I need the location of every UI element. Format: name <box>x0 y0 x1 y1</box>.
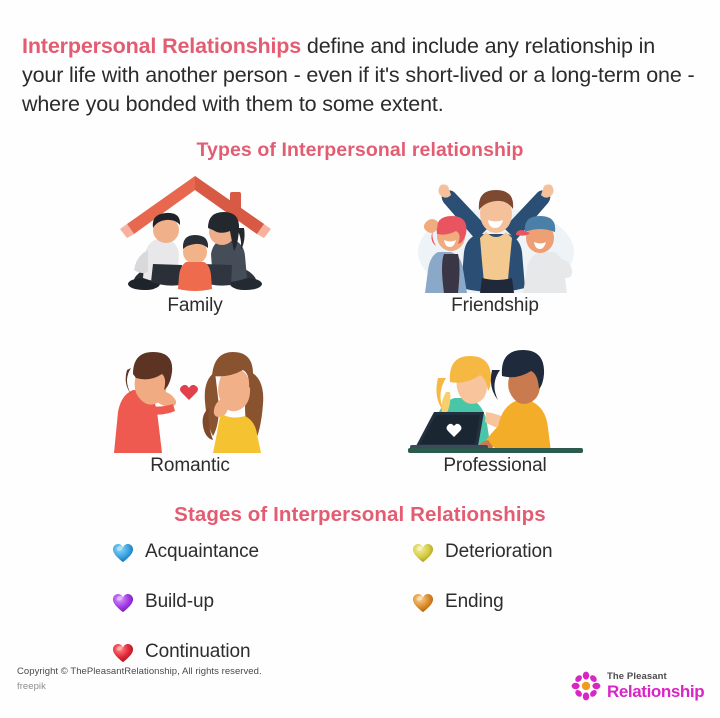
type-card-friendship: Friendship <box>345 168 645 323</box>
stage-label-build-up: Build-up <box>145 591 214 613</box>
types-section-heading: Types of Interpersonal relationship <box>0 139 720 162</box>
brand-logo[interactable]: The Pleasant Relationship <box>571 671 704 701</box>
friendship-illustration <box>345 168 645 293</box>
type-label-family: Family <box>45 295 345 317</box>
orange-heart-icon <box>412 592 434 613</box>
type-card-professional: Professional <box>345 328 645 483</box>
yellow-heart-icon <box>412 542 434 563</box>
red-heart-icon <box>112 642 134 663</box>
stage-label-continuation: Continuation <box>145 641 251 663</box>
romantic-illustration <box>40 328 340 453</box>
brand-logo-top-line: The Pleasant <box>607 672 704 682</box>
stage-item-acquaintance: Acquaintance <box>112 539 259 565</box>
stage-item-continuation: Continuation <box>112 639 251 665</box>
type-label-romantic: Romantic <box>40 455 340 477</box>
stages-section-heading: Stages of Interpersonal Relationships <box>0 503 720 527</box>
stage-label-deterioration: Deterioration <box>445 541 552 563</box>
stage-item-ending: Ending <box>412 589 504 615</box>
type-card-romantic: Romantic <box>40 328 340 483</box>
purple-heart-icon <box>112 592 134 613</box>
family-illustration <box>45 168 345 293</box>
stages-list: Acquaintance Build-up <box>0 534 720 659</box>
brand-logo-bottom-line: Relationship <box>607 683 704 700</box>
stage-item-build-up: Build-up <box>112 589 214 615</box>
intro-paragraph: Interpersonal Relationships define and i… <box>22 32 702 119</box>
stage-label-ending: Ending <box>445 591 504 613</box>
copyright-text: Copyright © ThePleasantRelationship, All… <box>17 665 262 679</box>
stage-item-deterioration: Deterioration <box>412 539 552 565</box>
type-card-family: Family <box>45 168 345 323</box>
image-credit-text: freepik <box>17 681 46 692</box>
type-label-friendship: Friendship <box>345 295 645 317</box>
intro-accent-phrase: Interpersonal Relationships <box>22 34 301 58</box>
stage-label-acquaintance: Acquaintance <box>145 541 259 563</box>
types-grid: Family <box>0 168 720 488</box>
brand-logo-text: The Pleasant Relationship <box>607 672 704 700</box>
blue-heart-icon <box>112 542 134 563</box>
flower-logo-icon <box>571 671 601 701</box>
type-label-professional: Professional <box>345 455 645 477</box>
infographic-page: Interpersonal Relationships define and i… <box>0 0 720 718</box>
professional-illustration <box>345 328 645 453</box>
